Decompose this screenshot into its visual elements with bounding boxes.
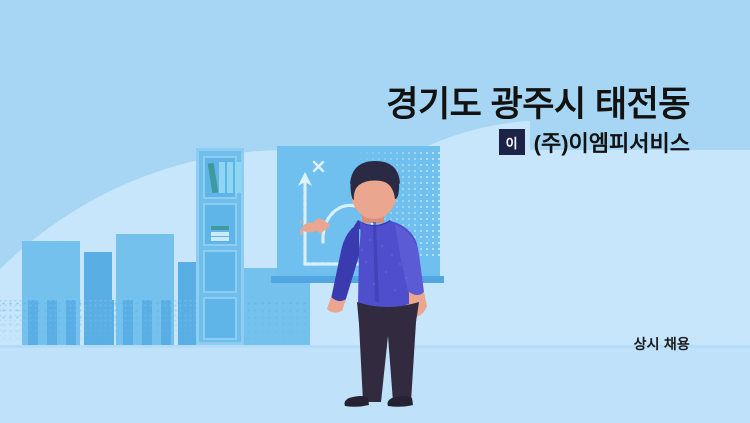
bookshelf-shelf-2 (203, 203, 237, 246)
bookshelf-shelf-3 (203, 250, 237, 293)
book (208, 163, 219, 194)
book (227, 162, 233, 193)
shirt-arm-left (331, 223, 359, 304)
book-stack (211, 232, 229, 236)
shoe-right (388, 396, 414, 407)
bookshelf-shelf-4 (203, 297, 237, 340)
company-name: (주)이엠피서비스 (534, 126, 690, 158)
standing-man-illustration (300, 160, 460, 423)
bookshelf-shelf-1 (203, 156, 237, 199)
shoe-left (345, 396, 370, 407)
book (219, 162, 225, 193)
trousers (357, 302, 419, 402)
book-stack (211, 226, 229, 230)
company-row: 이 (주)이엠피서비스 (499, 126, 690, 158)
book-stack (211, 237, 229, 241)
speckle-texture-left (0, 300, 310, 348)
job-posting-banner: 경기도 광주시 태전동 이 (주)이엠피서비스 상시 채용 (0, 0, 750, 423)
bookshelf (196, 148, 244, 345)
page-title: 경기도 광주시 태전동 (386, 76, 690, 127)
hiring-status-label: 상시 채용 (634, 334, 690, 354)
book (235, 162, 241, 193)
company-logo-badge: 이 (499, 129, 525, 155)
pointing-hand (300, 218, 330, 235)
